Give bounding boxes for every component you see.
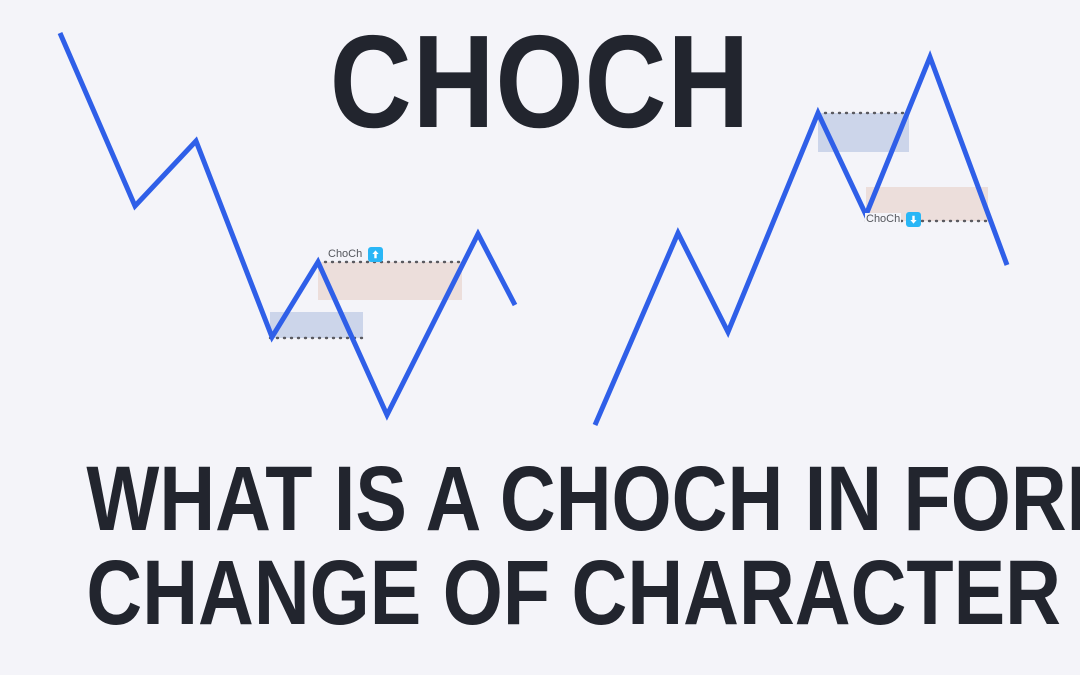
left-blue-zone xyxy=(270,312,363,338)
page-title: CHOCH xyxy=(76,16,1005,148)
page-subtitle-line-1: WHAT IS A CHOCH IN FOREX? xyxy=(86,452,993,546)
right-choch-label: ChoCh xyxy=(865,212,921,227)
right-choch-label-text: ChoCh xyxy=(865,213,901,225)
left-choch-label: ChoCh xyxy=(327,247,383,262)
left-choch-label-text: ChoCh xyxy=(327,248,363,260)
arrow-up-icon xyxy=(368,247,383,262)
left-pink-zone xyxy=(318,262,462,300)
poster-canvas: ChoCh ChoCh CHOCH WHAT IS A CHOCH IN FOR… xyxy=(0,0,1080,675)
page-subtitle: WHAT IS A CHOCH IN FOREX? CHANGE OF CHAR… xyxy=(0,452,1080,640)
arrow-down-icon xyxy=(906,212,921,227)
page-subtitle-line-2: CHANGE OF CHARACTER xyxy=(86,546,993,640)
